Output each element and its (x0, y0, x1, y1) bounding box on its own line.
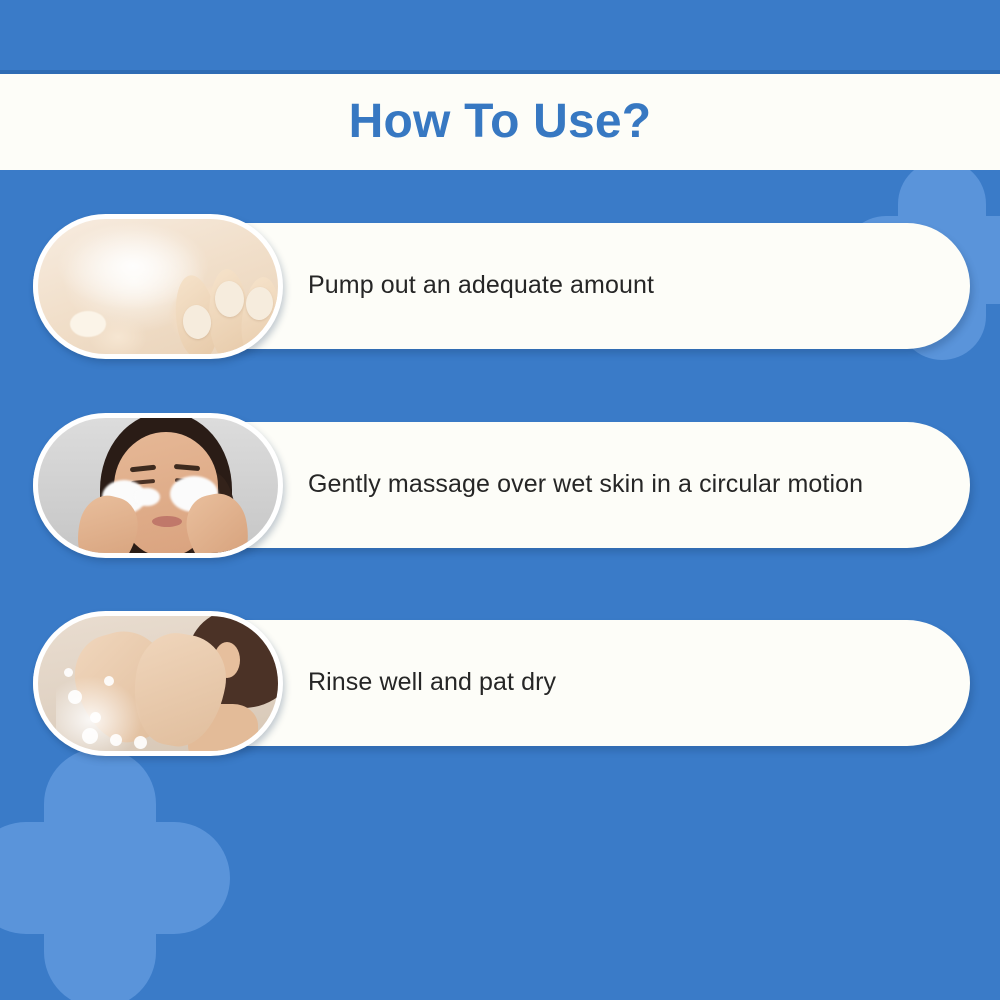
water-droplet (134, 736, 147, 749)
thumbnail-frame (38, 219, 278, 354)
water-droplet (82, 728, 98, 744)
list-item[interactable]: Pump out an adequate amount (33, 223, 970, 349)
step-text: Pump out an adequate amount (308, 223, 918, 349)
step-thumbnail (33, 611, 283, 756)
water-droplet (68, 690, 82, 704)
step-text: Rinse well and pat dry (308, 620, 918, 746)
list-item[interactable]: Gently massage over wet skin in a circul… (33, 422, 970, 548)
rinsing-face-with-water-photo (38, 616, 278, 751)
water-droplet (64, 668, 73, 677)
woman-massaging-face-with-foam-photo (38, 418, 278, 553)
cleanser-blob (70, 311, 106, 337)
hand-with-cleanser-pump-photo (38, 219, 278, 354)
water-droplet (110, 734, 122, 746)
step-text: Gently massage over wet skin in a circul… (308, 422, 918, 548)
water-droplet (104, 676, 114, 686)
list-item[interactable]: Rinse well and pat dry (33, 620, 970, 746)
step-thumbnail (33, 214, 283, 359)
how-to-use-poster: How To Use? (0, 0, 1000, 1000)
water-droplet (90, 712, 101, 723)
steps-list: Pump out an adequate amount (0, 0, 1000, 1000)
lips (152, 516, 182, 527)
foam-patch (134, 488, 160, 506)
thumbnail-frame (38, 616, 278, 751)
step-thumbnail (33, 413, 283, 558)
thumbnail-frame (38, 418, 278, 553)
